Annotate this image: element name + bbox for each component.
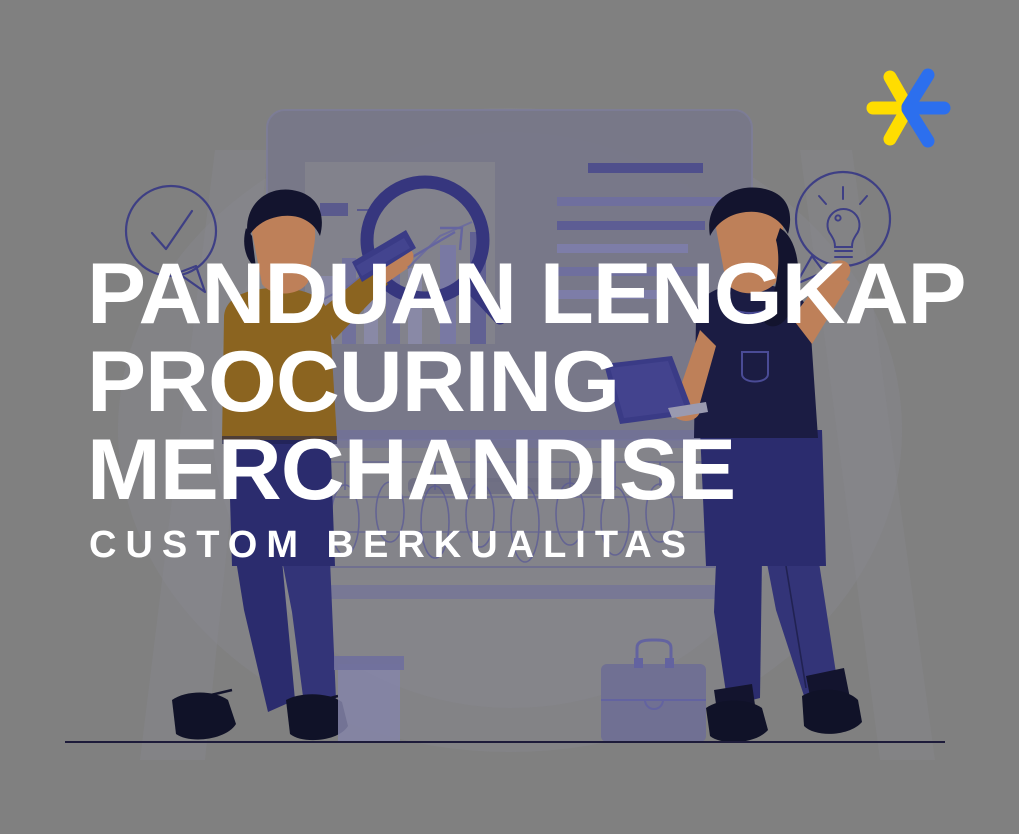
ground-line bbox=[65, 741, 945, 743]
clothing-rack bbox=[300, 430, 715, 580]
spoke-lower-left bbox=[890, 111, 906, 139]
brand-logo bbox=[864, 63, 954, 153]
asterisk-spokes-yellow bbox=[873, 77, 906, 139]
asterisk-spokes-blue bbox=[908, 75, 944, 141]
rack-base bbox=[300, 585, 715, 599]
poster-canvas: PANDUAN LENGKAP PROCURING MERCHANDISE CU… bbox=[0, 0, 1019, 834]
cardboard-box bbox=[334, 656, 404, 742]
spoke-upper-left bbox=[890, 77, 906, 105]
